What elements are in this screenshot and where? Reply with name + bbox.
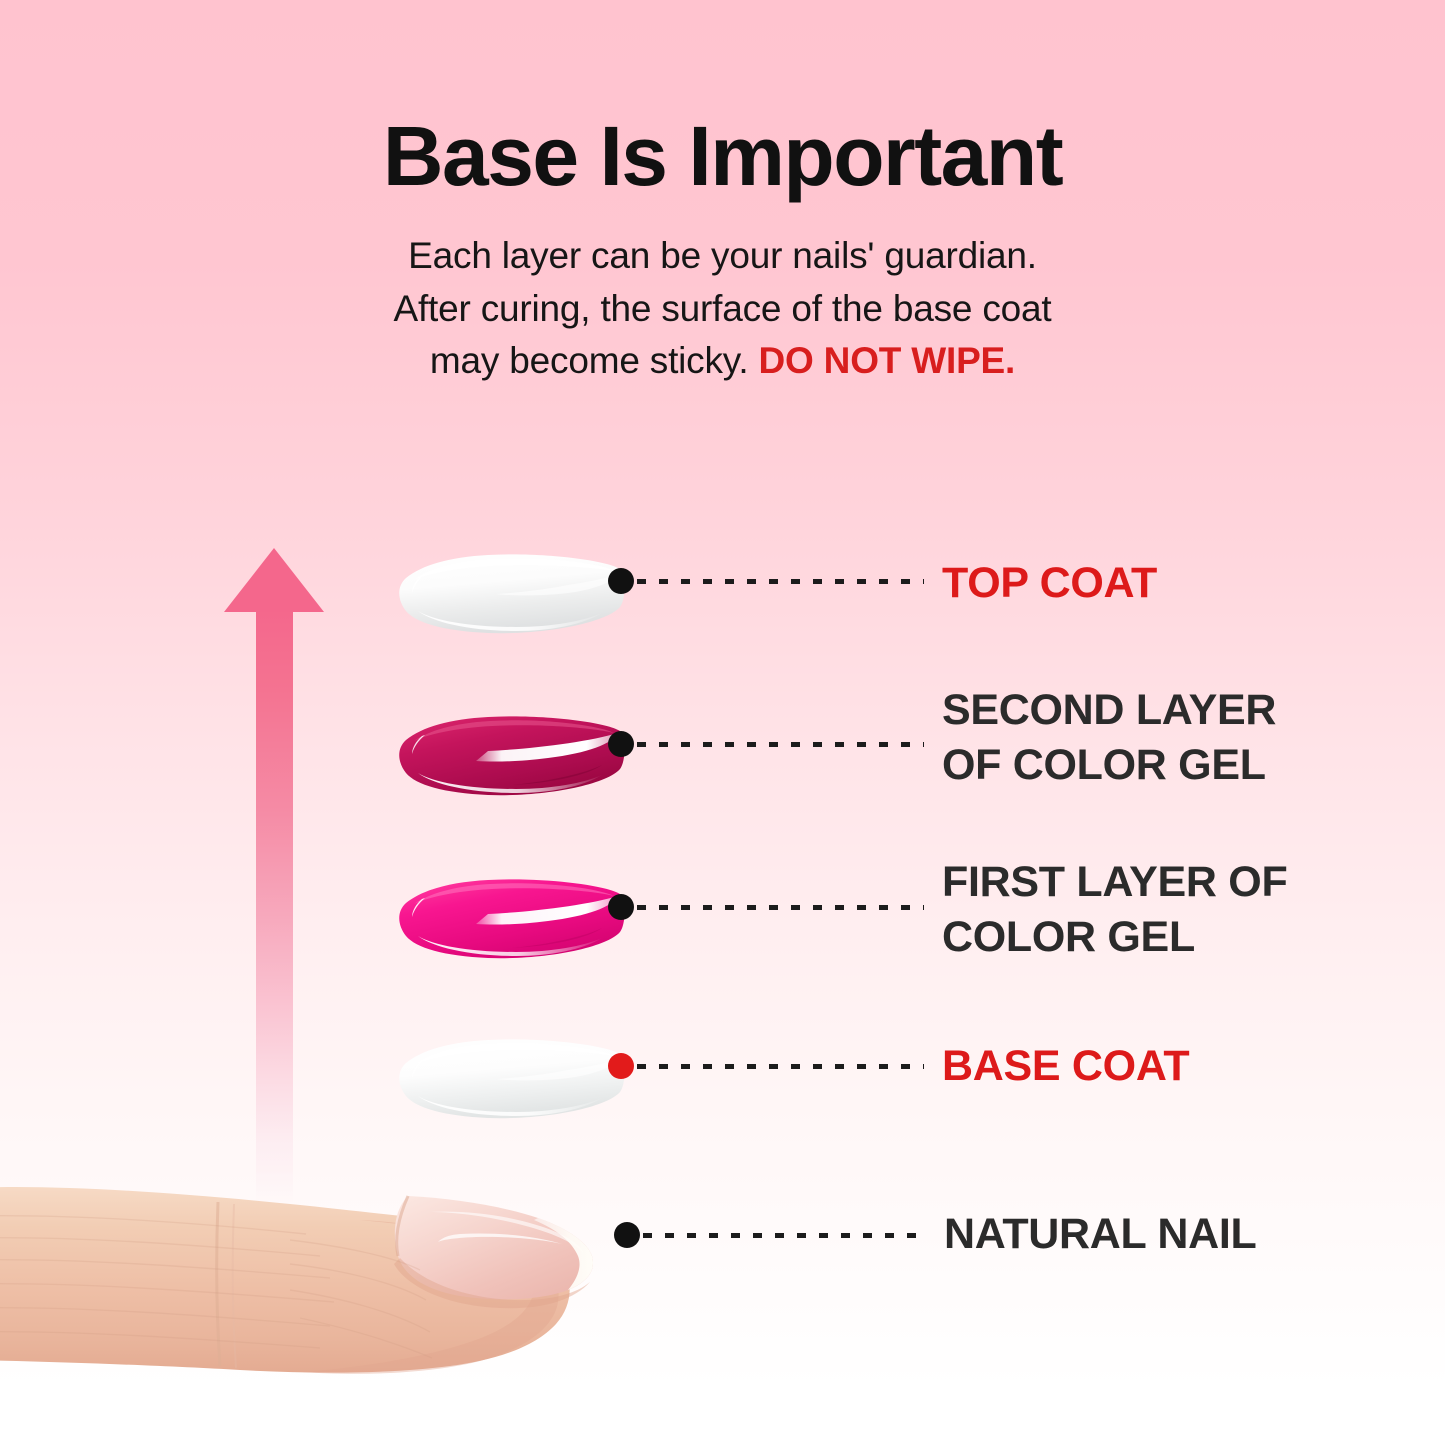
layer-label-second-color-gel: SECOND LAYER OF COLOR GEL [942,683,1276,793]
arrow-shaft [256,607,293,1205]
leader-line-second-color-gel [637,742,924,747]
subtitle-line-1: Each layer can be your nails' guardian. [408,235,1037,276]
layer-dot-second-color-gel [608,731,634,757]
subtitle-line-2: After curing, the surface of the base co… [394,288,1052,329]
subtitle-line-3-plain: may become sticky. [430,340,759,381]
layer-label-first-color-gel: FIRST LAYER OF COLOR GEL [942,855,1287,965]
do-not-wipe-warning: DO NOT WIPE. [759,340,1016,381]
leader-line-natural-nail [643,1233,926,1238]
page-title: Base Is Important [0,112,1445,200]
layer-label-natural-nail: NATURAL NAIL [944,1207,1257,1262]
nail-swatch-first-color-gel [392,874,624,970]
layer-label-base-coat: BASE COAT [942,1039,1189,1094]
layer-dot-base-coat [608,1053,634,1079]
layer-dot-top-coat [608,568,634,594]
nail-swatch-second-color-gel [392,711,624,807]
layer-dot-first-color-gel [608,894,634,920]
arrow-head-icon [224,548,324,612]
subtitle-text: Each layer can be your nails' guardian. … [0,200,1445,388]
nail-swatch-top-coat [392,549,624,645]
infographic-canvas: Base Is Important Each layer can be your… [0,0,1445,1445]
header-block: Base Is Important Each layer can be your… [0,112,1445,388]
leader-line-base-coat [637,1064,924,1069]
layer-label-top-coat: TOP COAT [942,556,1157,611]
finger-natural-nail-photo [0,1160,610,1445]
leader-line-first-color-gel [637,905,924,910]
build-order-arrow [220,545,330,1205]
nail-swatch-base-coat [392,1034,624,1130]
layer-dot-natural-nail [614,1222,640,1248]
leader-line-top-coat [637,579,924,584]
